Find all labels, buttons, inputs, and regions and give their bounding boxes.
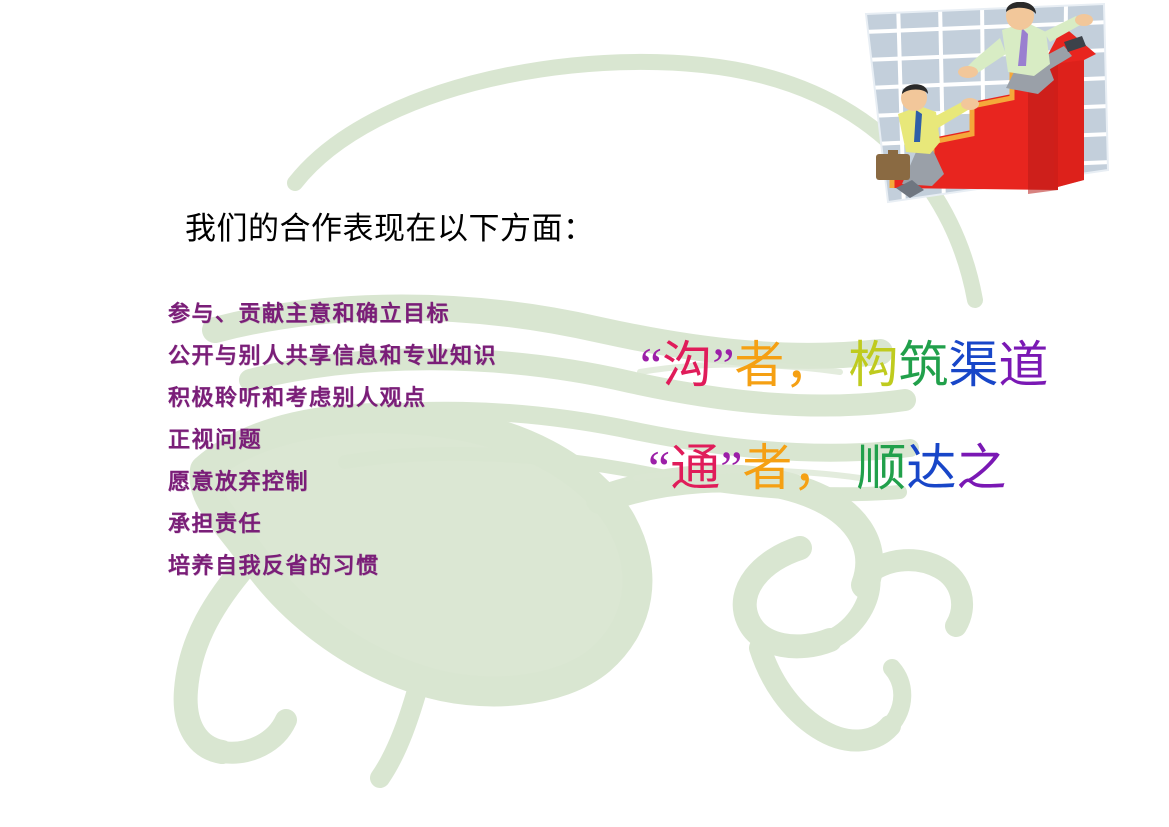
slogan-char: 渠 <box>948 340 998 390</box>
slogan-char: “ <box>648 443 670 493</box>
slogan-char: 构 <box>848 340 898 390</box>
slogan-char: 达 <box>906 443 956 493</box>
list-item: 承担责任 <box>168 514 638 536</box>
slogan-char: “ <box>640 340 662 390</box>
list-item: 正视问题 <box>168 430 638 452</box>
slogan-char: 沟 <box>662 340 712 390</box>
slogan-char: 通 <box>670 443 720 493</box>
list-item: 积极聆听和考虑别人观点 <box>168 388 638 410</box>
slogan-char: ， <box>784 340 834 390</box>
slogan-char: ” <box>712 340 734 390</box>
page-title: 我们的合作表现在以下方面： <box>185 212 595 246</box>
slide-canvas: 我们的合作表现在以下方面： 参与、贡献主意和确立目标 公开与别人共享信息和专业知… <box>0 0 1169 827</box>
slogan-spacer <box>842 443 856 493</box>
list-item: 愿意放弃控制 <box>168 472 638 494</box>
slogan-line-2: “通”者， 顺达之 <box>648 443 1006 493</box>
list-item: 培养自我反省的习惯 <box>168 556 638 578</box>
slogan-char: 道 <box>998 340 1048 390</box>
slogan-spacer <box>834 340 848 390</box>
slogan-char: ， <box>792 443 842 493</box>
slogan-char: ” <box>720 443 742 493</box>
clipart-teamwork-growth <box>858 2 1110 212</box>
slogan-char: 者 <box>742 443 792 493</box>
list-item: 参与、贡献主意和确立目标 <box>168 304 638 326</box>
slogan-char: 者 <box>734 340 784 390</box>
bullet-list: 参与、贡献主意和确立目标 公开与别人共享信息和专业知识 积极聆听和考虑别人观点 … <box>168 304 638 598</box>
list-item: 公开与别人共享信息和专业知识 <box>168 346 638 368</box>
slogan-line-1: “沟”者， 构筑渠道 <box>640 340 1048 390</box>
slogan-char: 顺 <box>856 443 906 493</box>
slogan-char: 筑 <box>898 340 948 390</box>
slogan-char: 之 <box>956 443 1006 493</box>
